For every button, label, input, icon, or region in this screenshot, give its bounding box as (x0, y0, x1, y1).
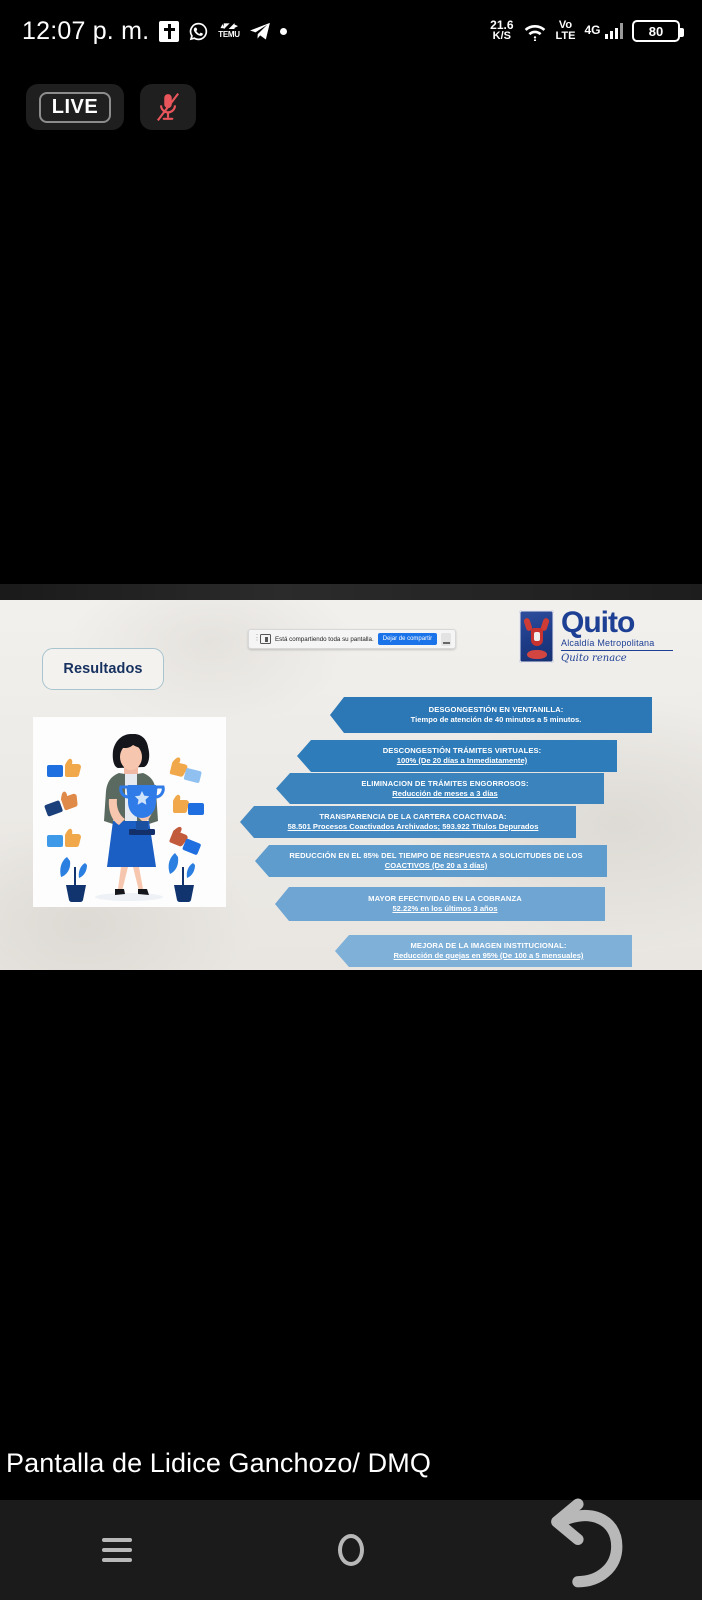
result-banner-title: ELIMINACION DE TRÁMITES ENGORROSOS: (361, 779, 528, 789)
result-banner: ELIMINACION DE TRÁMITES ENGORROSOS: Redu… (276, 773, 604, 804)
notification-icons: ▴◤◢▸TEMU (159, 21, 286, 42)
shared-screen-slide[interactable]: Resultados ⋮ Está compartiendo toda su p… (0, 584, 702, 970)
result-banner-title: MAYOR EFECTIVIDAD EN LA COBRANZA (368, 894, 522, 904)
status-bar-left: 12:07 p. m. ▴◤◢▸TEMU (22, 17, 287, 46)
results-banner-list: DESGONGESTIÓN EN VENTANILLA: Tiempo de a… (0, 584, 702, 970)
wifi-icon (523, 21, 547, 41)
result-banner-value: 52.22% en los últimos 3 años (392, 904, 497, 914)
volte-line-2: LTE (556, 31, 576, 42)
result-banner-value: Tiempo de atención de 40 minutos a 5 min… (411, 715, 582, 725)
status-clock: 12:07 p. m. (22, 17, 149, 46)
nav-back-button[interactable] (525, 1500, 645, 1600)
telegram-icon (249, 22, 271, 40)
result-banner-title: DESGONGESTIÓN EN VENTANILLA: (429, 705, 564, 715)
mic-mute-button[interactable] (140, 84, 196, 130)
bible-app-icon (159, 21, 179, 42)
result-banner-value: 100% (De 20 días a Inmediatamente) (397, 756, 527, 766)
result-banner-value: COACTIVOS (De 20 a 3 días) (385, 861, 488, 871)
result-banner-value: 58.501 Procesos Coactivados Archivados; … (288, 822, 539, 832)
result-banner: TRANSPARENCIA DE LA CARTERA COACTIVADA: … (240, 806, 576, 838)
result-banner: DESCONGESTIÓN TRÁMITES VIRTUALES: 100% (… (297, 740, 617, 772)
result-banner-title: REDUCCIÓN EN EL 85% DEL TIEMPO DE RESPUE… (289, 851, 582, 861)
mic-muted-icon (155, 92, 181, 122)
network-speed-indicator: 21.6 K/S (490, 20, 513, 42)
result-banner: DESGONGESTIÓN EN VENTANILLA: Tiempo de a… (330, 697, 652, 733)
result-banner-title: MEJORA DE LA IMAGEN INSTITUCIONAL: (411, 941, 567, 951)
nav-recents-button[interactable] (57, 1500, 177, 1600)
live-badge[interactable]: LIVE (26, 84, 124, 130)
signal-bars-icon (605, 23, 624, 39)
temu-icon: ▴◤◢▸TEMU (218, 23, 239, 39)
share-caption: Pantalla de Lidice Ganchozo/ DMQ (0, 1448, 702, 1479)
android-navigation-bar (0, 1500, 702, 1600)
signal-indicator: 4G (584, 23, 623, 39)
status-bar: 12:07 p. m. ▴◤◢▸TEMU (0, 0, 702, 62)
recents-icon (102, 1538, 132, 1562)
back-icon (525, 1490, 645, 1600)
whatsapp-icon (188, 21, 209, 42)
stream-controls: LIVE (26, 84, 196, 130)
result-banner: MAYOR EFECTIVIDAD EN LA COBRANZA 52.22% … (275, 887, 605, 921)
network-type-label: 4G (584, 23, 600, 37)
volte-indicator: Vo LTE (556, 20, 576, 42)
nav-home-button[interactable] (291, 1500, 411, 1600)
result-banner: REDUCCIÓN EN EL 85% DEL TIEMPO DE RESPUE… (255, 845, 607, 877)
status-bar-right: 21.6 K/S Vo LTE 4G 80 (490, 20, 680, 42)
network-speed-unit: K/S (490, 31, 513, 42)
phone-screen: 12:07 p. m. ▴◤◢▸TEMU (0, 0, 702, 1600)
result-banner: MEJORA DE LA IMAGEN INSTITUCIONAL: Reduc… (335, 935, 632, 967)
result-banner-title: DESCONGESTIÓN TRÁMITES VIRTUALES: (383, 746, 542, 756)
result-banner-value: Reducción de quejas en 95% (De 100 a 5 m… (394, 951, 584, 961)
more-notifications-dot-icon (280, 28, 287, 35)
home-icon (338, 1534, 364, 1566)
result-banner-value: Reducción de meses a 3 días (392, 789, 498, 799)
result-banner-title: TRANSPARENCIA DE LA CARTERA COACTIVADA: (319, 812, 506, 822)
live-label: LIVE (39, 92, 111, 123)
battery-indicator: 80 (632, 20, 680, 42)
battery-percent: 80 (649, 24, 663, 39)
